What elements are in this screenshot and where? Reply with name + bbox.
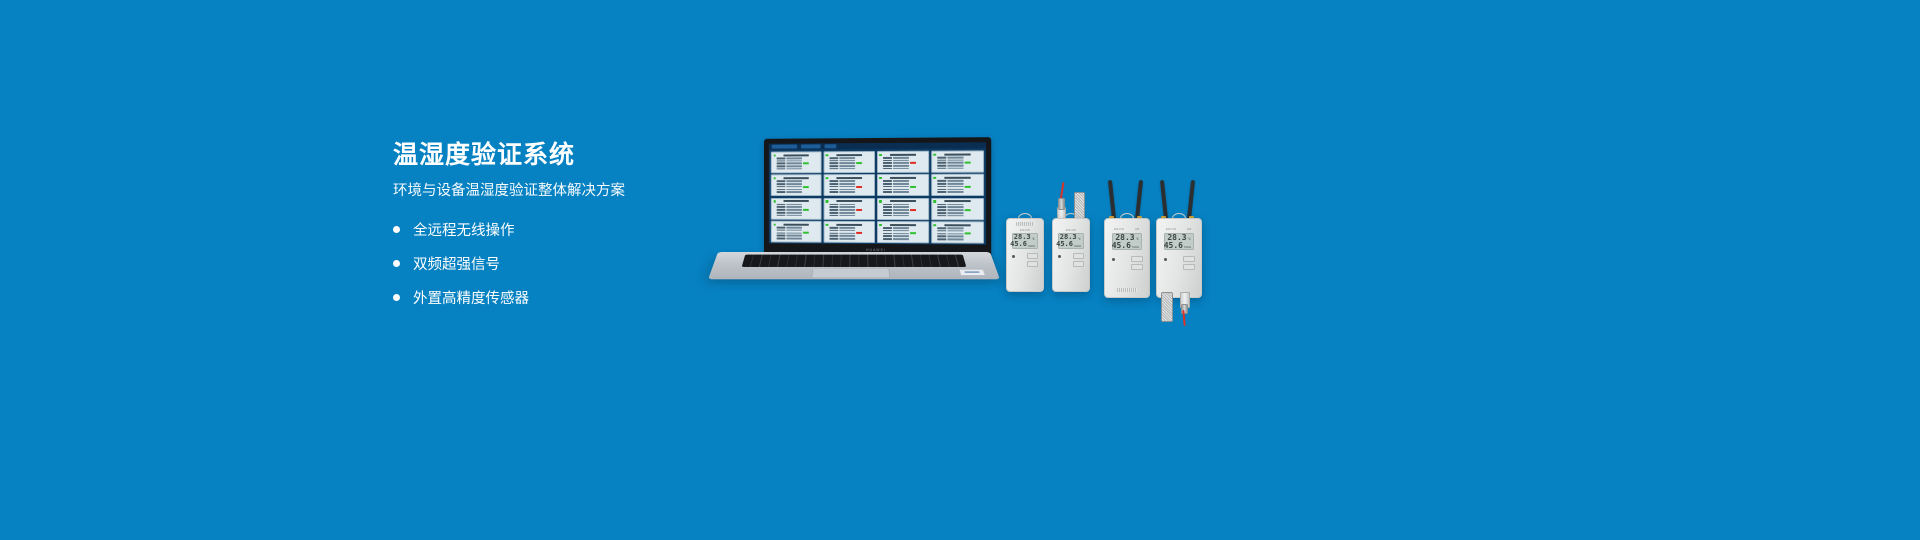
card-field-row <box>937 206 981 208</box>
laptop-spec-sticker <box>959 269 986 275</box>
lcd-humidity-row: 45.6 %RH <box>1115 242 1139 250</box>
antenna-icon <box>1160 180 1168 220</box>
card-field-row <box>883 168 927 170</box>
card-field-label <box>777 183 786 185</box>
card-field-label <box>937 233 946 235</box>
card-field-row <box>777 235 819 237</box>
card-field-row <box>829 165 872 167</box>
card-field-row <box>883 215 927 217</box>
card-field-row <box>937 185 981 187</box>
lcd-display: 28.3 ℃ 45.6 %RH <box>1164 233 1194 250</box>
card-field-value <box>893 157 909 159</box>
card-field-row <box>777 212 819 214</box>
card-title <box>890 153 916 155</box>
card-field-value <box>893 183 909 185</box>
card-alarm-badge <box>910 162 916 164</box>
lcd-display: 28.3 ℃ 45.6 %RH <box>1012 233 1038 249</box>
card-field-label <box>829 212 838 214</box>
humidity-unit: %RH <box>1132 246 1139 250</box>
card-title <box>837 223 862 225</box>
card-field-value <box>947 186 963 188</box>
card-field-value <box>839 204 855 206</box>
card-field-value <box>839 168 855 170</box>
card-ok-badge <box>856 162 862 164</box>
card-status-led-icon <box>826 223 828 225</box>
card-status-led-icon <box>826 177 828 179</box>
card-field-row <box>829 212 872 214</box>
card-field-row <box>937 159 981 161</box>
card-field-row <box>883 212 927 214</box>
card-field-label <box>883 183 892 185</box>
card-field-row <box>937 238 981 240</box>
card-field-row <box>829 214 872 216</box>
card-field-label <box>777 191 786 193</box>
card-title <box>890 177 916 179</box>
lcd-humidity-row: 45.6 %RH <box>1061 241 1081 248</box>
card-field-row <box>883 209 927 211</box>
card-field-label <box>829 230 838 232</box>
card-field-label <box>777 229 786 231</box>
card-field-label <box>883 157 892 159</box>
sensor-card[interactable] <box>877 174 930 196</box>
device-key[interactable] <box>1131 256 1143 262</box>
device-keypad[interactable] <box>1131 256 1143 270</box>
sensor-card[interactable] <box>877 198 930 220</box>
vent-grille-icon <box>1117 288 1137 292</box>
humidity-value: 45.6 <box>1010 241 1027 248</box>
card-field-label <box>883 186 892 188</box>
sensor-card[interactable] <box>771 221 822 243</box>
card-field-row <box>883 230 927 232</box>
card-field-value <box>947 230 963 232</box>
card-status-led-icon <box>879 200 881 203</box>
card-field-value <box>839 227 855 229</box>
card-field-label <box>937 215 946 217</box>
device-key[interactable] <box>1183 264 1195 270</box>
card-field-row <box>937 230 981 232</box>
card-field-label <box>937 209 946 211</box>
card-field-value <box>839 206 855 208</box>
card-field-label <box>777 163 786 165</box>
card-field-label <box>829 189 838 191</box>
laptop-base <box>708 252 1000 279</box>
sensor-card[interactable] <box>931 150 984 172</box>
card-field-value <box>893 233 909 235</box>
card-ok-badge <box>803 209 809 211</box>
card-field-label <box>829 204 838 206</box>
card-field-label <box>829 160 838 162</box>
card-title <box>890 200 916 202</box>
card-field-value <box>893 162 909 164</box>
card-field-value <box>839 160 855 162</box>
card-status-led-icon <box>773 200 775 202</box>
card-field-label <box>777 168 786 170</box>
card-field-row <box>937 212 981 214</box>
card-title <box>944 200 970 202</box>
card-field-value <box>786 157 802 159</box>
card-field-label <box>829 206 838 208</box>
device-keypad[interactable] <box>1073 253 1084 267</box>
card-field-value <box>786 186 802 188</box>
card-field-value <box>893 204 909 206</box>
card-field-label <box>777 237 786 239</box>
card-field-value <box>893 180 909 182</box>
sensor-card[interactable] <box>931 198 984 220</box>
card-field-label <box>883 233 892 235</box>
card-ok-badge <box>964 233 970 235</box>
card-field-value <box>839 191 855 193</box>
card-field-row <box>829 162 872 164</box>
card-field-row <box>937 167 981 169</box>
laptop-keyboard[interactable] <box>742 255 967 267</box>
device-keypad[interactable] <box>1183 256 1195 270</box>
card-field-row <box>937 162 981 164</box>
card-field-value <box>839 189 855 191</box>
card-field-label <box>937 191 946 193</box>
card-alarm-badge <box>910 209 916 211</box>
card-field-value <box>947 209 963 211</box>
toolbar-menu-item[interactable] <box>825 144 837 148</box>
device-key[interactable] <box>1027 253 1038 259</box>
card-field-value <box>893 215 909 217</box>
card-field-row <box>829 183 872 185</box>
card-field-label <box>829 232 838 234</box>
device-key[interactable] <box>1183 256 1195 262</box>
bullet-dot-icon <box>393 226 400 233</box>
card-field-row <box>883 206 927 208</box>
card-field-value <box>786 160 802 162</box>
card-status-led-icon <box>933 153 936 156</box>
sensor-card[interactable] <box>823 198 875 220</box>
card-field-label <box>883 206 892 208</box>
card-field-value <box>893 212 909 214</box>
card-field-label <box>883 227 892 229</box>
bullet-dot-icon <box>393 294 400 301</box>
card-field-label <box>829 157 838 159</box>
sensor-card[interactable] <box>771 151 822 173</box>
laptop-lid: HUAWEI <box>764 137 991 257</box>
card-field-value <box>947 212 963 214</box>
humidity-unit: %RH <box>1184 246 1191 250</box>
toolbar-menu-item[interactable] <box>801 144 821 148</box>
page-title: 温湿度验证系统 <box>393 142 723 170</box>
card-field-row <box>829 204 872 206</box>
card-field-label <box>829 180 838 182</box>
card-field-value <box>839 232 855 234</box>
card-field-row <box>937 233 981 235</box>
sensor-card[interactable] <box>931 174 984 196</box>
card-field-row <box>883 238 927 240</box>
card-field-label <box>829 227 838 229</box>
card-field-label <box>937 206 946 208</box>
card-field-label <box>777 212 786 214</box>
device-body: EN/ON HB 28.3 ℃ 45.6 %RH <box>1156 218 1202 298</box>
card-field-label <box>937 230 946 232</box>
card-field-label <box>883 165 892 167</box>
card-field-label <box>883 180 892 182</box>
card-alarm-badge <box>856 209 862 211</box>
card-field-row <box>777 160 819 162</box>
card-field-label <box>777 232 786 234</box>
card-field-row <box>829 230 872 232</box>
card-field-row <box>829 235 872 237</box>
card-ok-badge <box>803 162 809 164</box>
card-field-label <box>883 238 892 240</box>
device-key[interactable] <box>1073 253 1084 259</box>
card-field-value <box>947 206 963 208</box>
card-field-row <box>829 206 872 208</box>
device-key[interactable] <box>1027 261 1038 267</box>
card-title <box>944 177 970 179</box>
card-field-label <box>883 160 892 162</box>
card-status-led-icon <box>879 177 881 180</box>
humidity-unit: %RH <box>1028 245 1035 249</box>
lcd-display: 28.3 ℃ 45.6 %RH <box>1112 233 1142 250</box>
card-field-value <box>786 229 802 231</box>
card-field-row <box>883 235 927 237</box>
card-field-label <box>883 235 892 237</box>
card-title <box>837 154 862 156</box>
antenna-icon <box>1135 180 1143 220</box>
card-field-value <box>839 214 855 216</box>
indicator-led-icon <box>1058 255 1061 258</box>
card-status-led-icon <box>773 154 775 156</box>
card-field-value <box>786 214 802 216</box>
card-field-row <box>777 168 819 170</box>
antenna-icon <box>1187 180 1195 220</box>
humidity-unit: %RH <box>1074 245 1081 249</box>
card-ok-badge <box>910 186 916 188</box>
card-field-value <box>786 181 802 183</box>
card-field-value <box>786 189 802 191</box>
sensor-device-4: EN/ON HB 28.3 ℃ 45.6 %RH <box>1156 218 1200 296</box>
card-title <box>837 177 862 179</box>
card-field-row <box>883 180 927 182</box>
card-field-value <box>893 165 909 167</box>
card-field-value <box>786 212 802 214</box>
card-field-row <box>883 157 927 159</box>
card-field-value <box>947 215 963 217</box>
feature-label: 全远程无线操作 <box>413 219 515 240</box>
card-field-row <box>937 204 981 206</box>
card-field-value <box>786 237 802 239</box>
device-body: ENOW 28.3 ℃ 45.6 %RH <box>1006 218 1044 292</box>
card-field-row <box>829 160 872 162</box>
list-item: 全远程无线操作 <box>393 219 723 240</box>
lcd-humidity-row: 45.6 %RH <box>1015 241 1035 248</box>
sensor-card[interactable] <box>823 221 875 243</box>
card-field-value <box>786 204 802 206</box>
card-field-row <box>937 183 981 185</box>
card-field-value <box>947 227 963 229</box>
card-field-value <box>839 162 855 164</box>
card-field-value <box>839 165 855 167</box>
card-field-value <box>947 238 963 240</box>
card-field-value <box>947 157 963 159</box>
card-field-row <box>937 227 981 229</box>
card-field-label <box>777 157 786 159</box>
card-field-row <box>829 186 872 188</box>
card-field-value <box>893 189 909 191</box>
feature-label: 外置高精度传感器 <box>413 287 529 308</box>
card-field-label <box>777 186 786 188</box>
card-field-value <box>893 238 909 240</box>
card-title <box>890 224 916 226</box>
card-field-row <box>829 157 872 159</box>
card-field-label <box>883 162 892 164</box>
card-status-led-icon <box>879 153 881 156</box>
card-field-label <box>777 214 786 216</box>
indicator-led-icon <box>1164 258 1167 261</box>
card-alarm-badge <box>856 186 862 188</box>
card-field-label <box>883 212 892 214</box>
card-field-label <box>829 191 838 193</box>
card-field-label <box>883 168 892 170</box>
card-field-value <box>839 157 855 159</box>
card-field-row <box>883 159 927 161</box>
card-field-label <box>829 214 838 216</box>
card-title <box>837 200 862 202</box>
card-field-value <box>893 209 909 211</box>
card-field-label <box>937 183 946 185</box>
card-field-value <box>839 180 855 182</box>
card-field-label <box>777 206 786 208</box>
card-field-row <box>829 238 872 240</box>
sensor-card[interactable] <box>931 221 984 243</box>
device-button-label-right: HB <box>1135 227 1140 231</box>
card-field-label <box>829 183 838 185</box>
device-button-label-left: EN/ON <box>1166 227 1176 231</box>
humidity-value: 45.6 <box>1112 242 1131 250</box>
card-title <box>784 177 809 179</box>
card-field-label <box>829 209 838 211</box>
card-field-row <box>777 237 819 239</box>
card-field-row <box>829 227 872 229</box>
laptop-screen <box>769 142 986 244</box>
card-field-label <box>829 186 838 188</box>
device-key[interactable] <box>1131 264 1143 270</box>
card-field-label <box>937 165 946 167</box>
card-field-value <box>839 209 855 211</box>
card-title <box>944 224 970 226</box>
card-field-value <box>786 232 802 234</box>
card-field-row <box>829 180 872 182</box>
card-field-label <box>937 204 946 206</box>
card-field-value <box>893 159 909 161</box>
card-field-row <box>937 209 981 211</box>
card-field-label <box>829 235 838 237</box>
card-ok-badge <box>803 232 809 234</box>
card-field-label <box>883 215 892 217</box>
card-field-label <box>829 238 838 240</box>
probe-tip <box>1058 198 1065 210</box>
bullet-dot-icon <box>393 260 400 267</box>
card-title <box>784 200 809 202</box>
card-title <box>784 154 809 156</box>
card-status-led-icon <box>826 200 828 202</box>
sensor-card[interactable] <box>771 198 822 220</box>
sensor-card[interactable] <box>877 221 930 243</box>
laptop-trackpad[interactable] <box>811 268 890 278</box>
card-field-label <box>883 204 892 206</box>
card-ok-badge <box>910 232 916 234</box>
card-field-label <box>777 181 786 183</box>
card-field-value <box>786 235 802 237</box>
card-field-label <box>937 227 946 229</box>
card-field-label <box>777 227 786 229</box>
card-field-row <box>937 236 981 238</box>
sensor-card[interactable] <box>877 151 930 173</box>
card-field-label <box>777 209 786 211</box>
device-keypad[interactable] <box>1027 253 1038 267</box>
device-button-label-right: HB <box>1187 227 1192 231</box>
card-ok-badge <box>964 162 970 164</box>
card-field-value <box>947 233 963 235</box>
humidity-value: 45.6 <box>1164 242 1183 250</box>
card-field-value <box>839 183 855 185</box>
sensor-card[interactable] <box>771 175 822 197</box>
sensor-card[interactable] <box>823 151 875 173</box>
card-field-value <box>947 159 963 161</box>
card-field-row <box>777 186 819 188</box>
card-field-row <box>777 227 819 229</box>
card-field-value <box>893 230 909 232</box>
antenna-icon <box>1108 180 1116 220</box>
humidity-value: 45.6 <box>1056 241 1073 248</box>
page-subtitle: 环境与设备温湿度验证整体解决方案 <box>393 183 723 200</box>
card-field-value <box>786 163 802 165</box>
feature-list: 全远程无线操作 双频超强信号 外置高精度传感器 <box>393 219 723 308</box>
card-field-row <box>883 189 927 191</box>
card-field-row <box>777 229 819 231</box>
card-field-row <box>777 214 819 216</box>
card-field-value <box>839 235 855 237</box>
card-status-led-icon <box>933 177 936 180</box>
card-field-row <box>937 156 981 158</box>
card-field-label <box>829 163 838 165</box>
card-status-led-icon <box>933 224 936 227</box>
card-field-row <box>937 191 981 193</box>
card-field-row <box>829 209 872 211</box>
card-field-row <box>777 157 819 159</box>
lcd-humidity-row: 45.6 %RH <box>1167 242 1191 250</box>
toolbar-menu-item[interactable] <box>772 145 797 149</box>
card-field-row <box>937 165 981 167</box>
card-field-row <box>883 204 927 206</box>
card-status-led-icon <box>933 200 936 203</box>
card-field-row <box>829 191 872 193</box>
device-key[interactable] <box>1073 261 1084 267</box>
device-button-label-left: EN/ON <box>1114 227 1124 231</box>
card-field-label <box>937 180 946 182</box>
card-field-value <box>786 168 802 170</box>
card-field-row <box>829 189 872 191</box>
list-item: 外置高精度传感器 <box>393 287 723 308</box>
sensor-device-3: EN/ON HB 28.3 ℃ 45.6 %RH <box>1104 218 1148 296</box>
card-status-led-icon <box>773 223 775 225</box>
card-field-value <box>947 188 963 190</box>
card-field-row <box>829 168 872 170</box>
card-field-row <box>777 191 819 193</box>
lcd-display: 28.3 ℃ 45.6 %RH <box>1058 233 1084 249</box>
card-ok-badge <box>964 209 970 211</box>
card-field-row <box>937 188 981 190</box>
card-field-row <box>937 180 981 182</box>
card-field-value <box>786 165 802 167</box>
card-field-value <box>947 167 963 169</box>
card-title <box>784 223 809 225</box>
sensor-card[interactable] <box>823 174 875 196</box>
